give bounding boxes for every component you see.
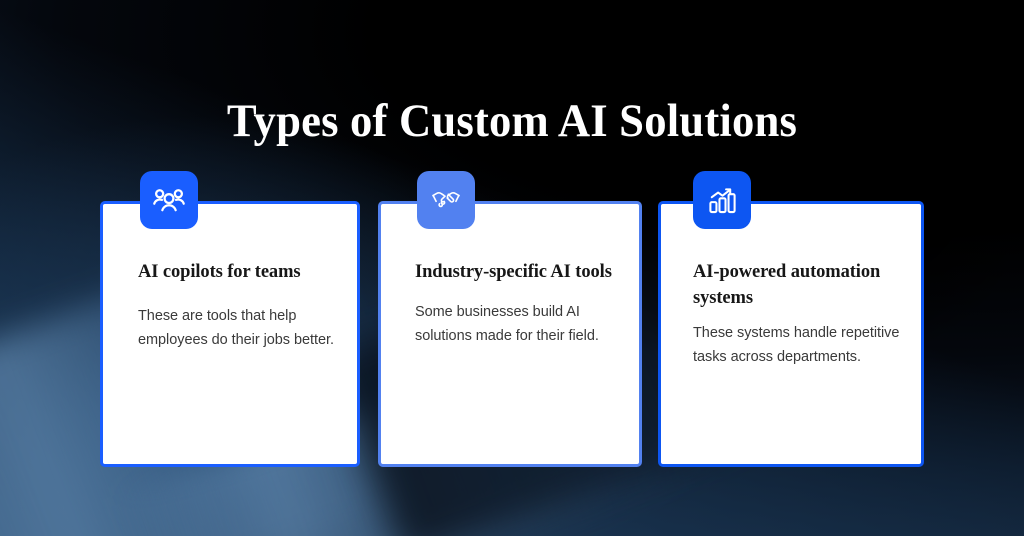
bar-chart-growth-icon	[693, 171, 751, 229]
card-ai-powered-automation[interactable]: AI-powered automation systems These syst…	[658, 201, 924, 467]
card-description: These systems handle repetitive tasks ac…	[693, 321, 905, 369]
card-industry-specific-ai-tools[interactable]: Industry-specific AI tools Some business…	[378, 201, 642, 467]
card-description: Some businesses build AI solutions made …	[415, 300, 615, 348]
card-content: AI copilots for teams These are tools th…	[103, 204, 357, 352]
card-heading: Industry-specific AI tools	[415, 260, 615, 286]
card-content: AI-powered automation systems These syst…	[661, 204, 921, 369]
card-heading: AI-powered automation systems	[693, 260, 905, 311]
slide-canvas: Types of Custom AI Solutions AI copilots…	[0, 0, 1024, 536]
card-ai-copilots[interactable]: AI copilots for teams These are tools th…	[100, 201, 360, 467]
users-group-icon	[140, 171, 198, 229]
handshake-icon	[417, 171, 475, 229]
card-heading: AI copilots for teams	[138, 260, 335, 286]
cards-row: AI copilots for teams These are tools th…	[100, 201, 924, 467]
card-description: These are tools that help employees do t…	[138, 304, 335, 352]
page-title: Types of Custom AI Solutions	[26, 97, 999, 146]
